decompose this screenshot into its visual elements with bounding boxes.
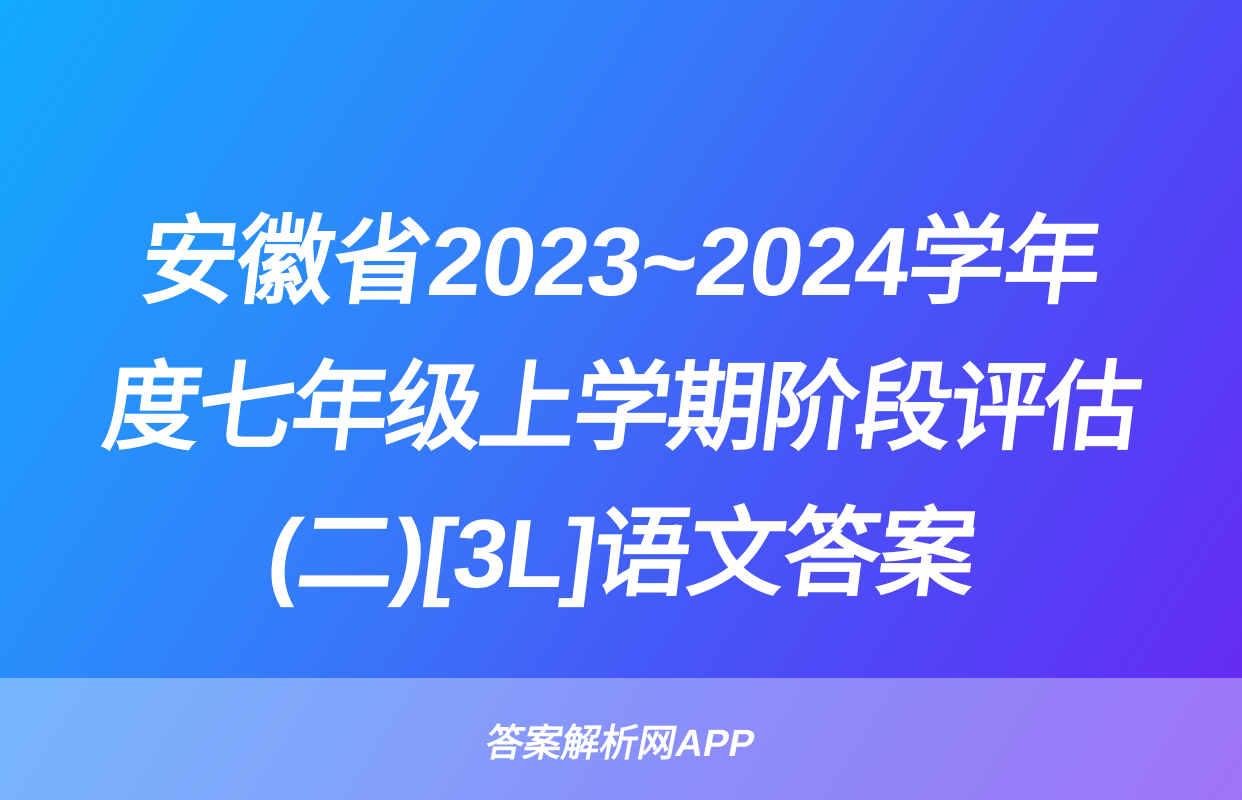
watermark-band: 答案解析网APP bbox=[0, 678, 1242, 800]
watermark-label: 答案解析网APP bbox=[482, 712, 761, 767]
title-line-1: 安徽省2023~2024学年 bbox=[15, 189, 1227, 335]
title-line-2: 度七年级上学期阶段评估 bbox=[15, 335, 1227, 481]
poster-canvas: 安徽省2023~2024学年 度七年级上学期阶段评估 (二)[3L]语文答案 答… bbox=[0, 0, 1242, 800]
title-line-3: (二)[3L]语文答案 bbox=[15, 481, 1227, 627]
page-title: 安徽省2023~2024学年 度七年级上学期阶段评估 (二)[3L]语文答案 bbox=[0, 168, 1242, 648]
